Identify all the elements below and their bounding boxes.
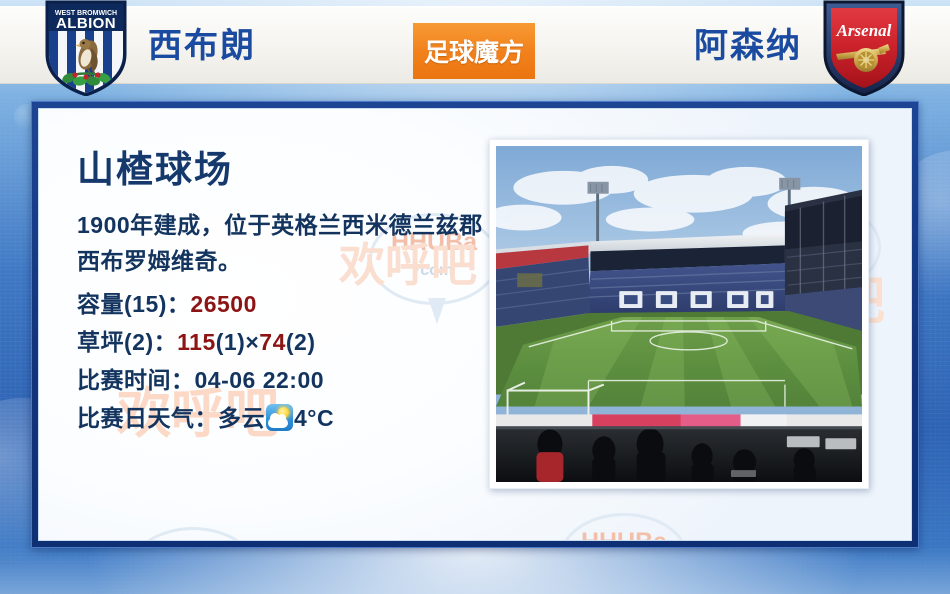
match-time-label: 比赛时间： xyxy=(77,367,195,393)
site-logo[interactable]: 足球魔方 xyxy=(413,23,535,79)
svg-text:ALBION: ALBION xyxy=(56,15,116,32)
watermark: HHUBa ·com xyxy=(127,527,259,541)
pitch-row: 草坪(2)：115(1)×74(2) xyxy=(77,323,497,361)
svg-text:Arsenal: Arsenal xyxy=(836,21,892,40)
weather-temperature: 4°C xyxy=(294,405,334,431)
west-bromwich-albion-crest[interactable]: WEST BROMWICH ALBION xyxy=(44,0,128,96)
weather-condition: 多云 xyxy=(218,405,265,431)
capacity-row: 容量(15)：26500 xyxy=(77,285,497,323)
weather-label: 比赛日天气： xyxy=(77,405,218,431)
cloud-shape xyxy=(268,418,288,428)
match-header-bar: 西布朗 足球魔方 阿森纳 xyxy=(0,6,950,84)
pitch-separator: × xyxy=(245,329,259,355)
stadium-photo-frame[interactable] xyxy=(489,139,869,489)
match-time-row: 比赛时间：04-06 22:00 xyxy=(77,361,497,399)
stadium-info-card: 西布朗 足球魔方 阿森纳 WEST BROMWICH xyxy=(0,0,950,594)
weather-row: 比赛日天气：多云 4°C xyxy=(77,399,497,437)
away-team-name: 阿森纳 xyxy=(694,27,802,65)
site-logo-label: 足球魔方 xyxy=(424,33,524,69)
content-panel: HHUBa ·com HHUBa ·com HHUBa ·com HHUBa ·… xyxy=(38,108,912,541)
stadium-title: 山楂球场 xyxy=(77,149,497,191)
stadium-info: 山楂球场 1900年建成，位于英格兰西米德兰兹郡西布罗姆维奇。 容量(15)：2… xyxy=(77,149,497,437)
capacity-label: 容量(15)： xyxy=(77,291,190,317)
watermark-label: HHUBa xyxy=(562,528,686,541)
pitch-length-rank: (1) xyxy=(216,329,246,355)
pitch-label: 草坪(2)： xyxy=(77,329,177,355)
arsenal-crest[interactable]: Arsenal xyxy=(822,0,906,96)
home-team-name: 西布朗 xyxy=(148,27,256,65)
content-panel-frame: HHUBa ·com HHUBa ·com HHUBa ·com HHUBa ·… xyxy=(31,101,919,548)
pitch-length: 115 xyxy=(177,329,216,355)
pitch-width-rank: (2) xyxy=(286,329,316,355)
stadium-description: 1900年建成，位于英格兰西米德兰兹郡西布罗姆维奇。 xyxy=(77,207,497,279)
capacity-value: 26500 xyxy=(190,291,256,317)
watermark: HHUBa ·com xyxy=(559,513,689,541)
match-time-value: 04-06 22:00 xyxy=(195,367,325,393)
partly-cloudy-icon xyxy=(266,404,293,431)
pitch-width: 74 xyxy=(259,329,286,355)
stadium-photo xyxy=(496,146,862,482)
